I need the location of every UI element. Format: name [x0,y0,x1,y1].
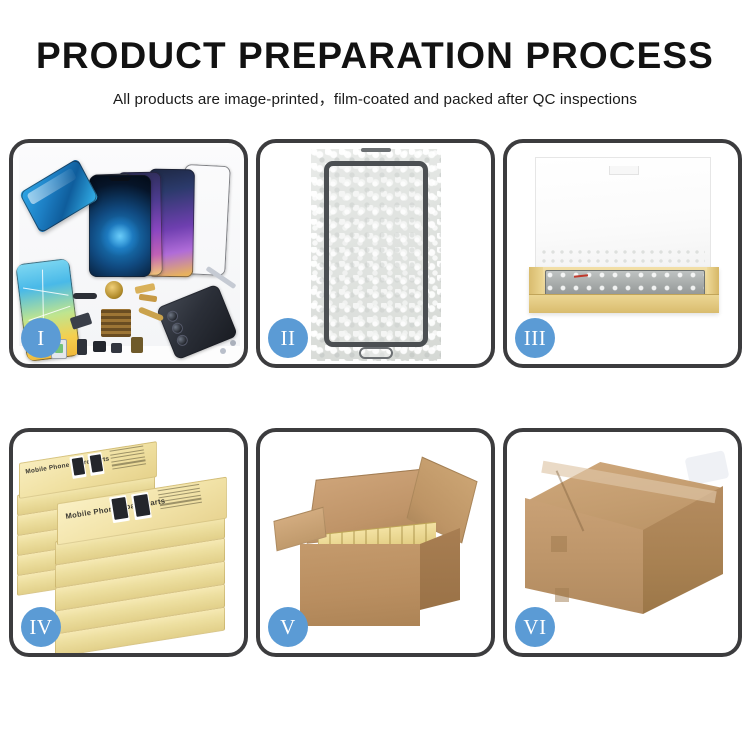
step-panel-6[interactable]: VI [503,428,742,657]
product-preparation-infographic: PRODUCT PREPARATION PROCESS All products… [0,0,750,750]
carton-front-panel [300,544,420,626]
step-badge-5: V [268,607,308,647]
process-steps-grid: I II [9,139,741,657]
step-panel-4[interactable]: Mobile Phone Spare Parts Mobile Phone Sp… [9,428,248,657]
earpiece-slot [361,148,391,152]
logic-board-part [101,309,131,337]
phone-notch [109,177,131,181]
home-button [359,347,393,359]
kraft-box-tray [529,267,719,313]
step-badge-2: II [268,318,308,358]
button-part [93,341,106,352]
button-part [77,339,87,355]
tray-front-wall [529,294,719,313]
label-accent [574,274,588,277]
step-badge-6: VI [515,607,555,647]
step-panel-1[interactable]: I [9,139,248,368]
wireless-coil-part [105,281,123,299]
crack-line [23,288,69,296]
wrapped-phone-screen [324,161,428,347]
battery-connector-part [131,337,143,353]
step-panel-2[interactable]: II [256,139,495,368]
camera-lens [165,309,179,323]
step-badge-1: I [21,318,61,358]
phone-screen-blue-center [89,175,151,277]
wrapped-screen-in-box [545,270,705,296]
screw-part [220,348,226,354]
camera-lens [170,321,184,335]
lid-tab [609,166,639,175]
step-panel-3[interactable]: III [503,139,742,368]
step-badge-3: III [515,318,555,358]
screen-glow [100,216,140,256]
screw-part [230,340,236,346]
carton-tab [551,536,567,552]
page-subtitle: All products are image-printed，film-coat… [0,76,750,109]
screen-surface [329,166,423,342]
header: PRODUCT PREPARATION PROCESS All products… [0,0,750,109]
page-title: PRODUCT PREPARATION PROCESS [0,0,750,76]
camera-lens [175,333,189,347]
step-badge-4: IV [21,607,61,647]
carton-tab [555,588,569,602]
carton-backdrop-highlight [685,450,730,486]
speaker-part [73,293,97,299]
step-panel-5[interactable]: V [256,428,495,657]
button-part [111,343,122,353]
